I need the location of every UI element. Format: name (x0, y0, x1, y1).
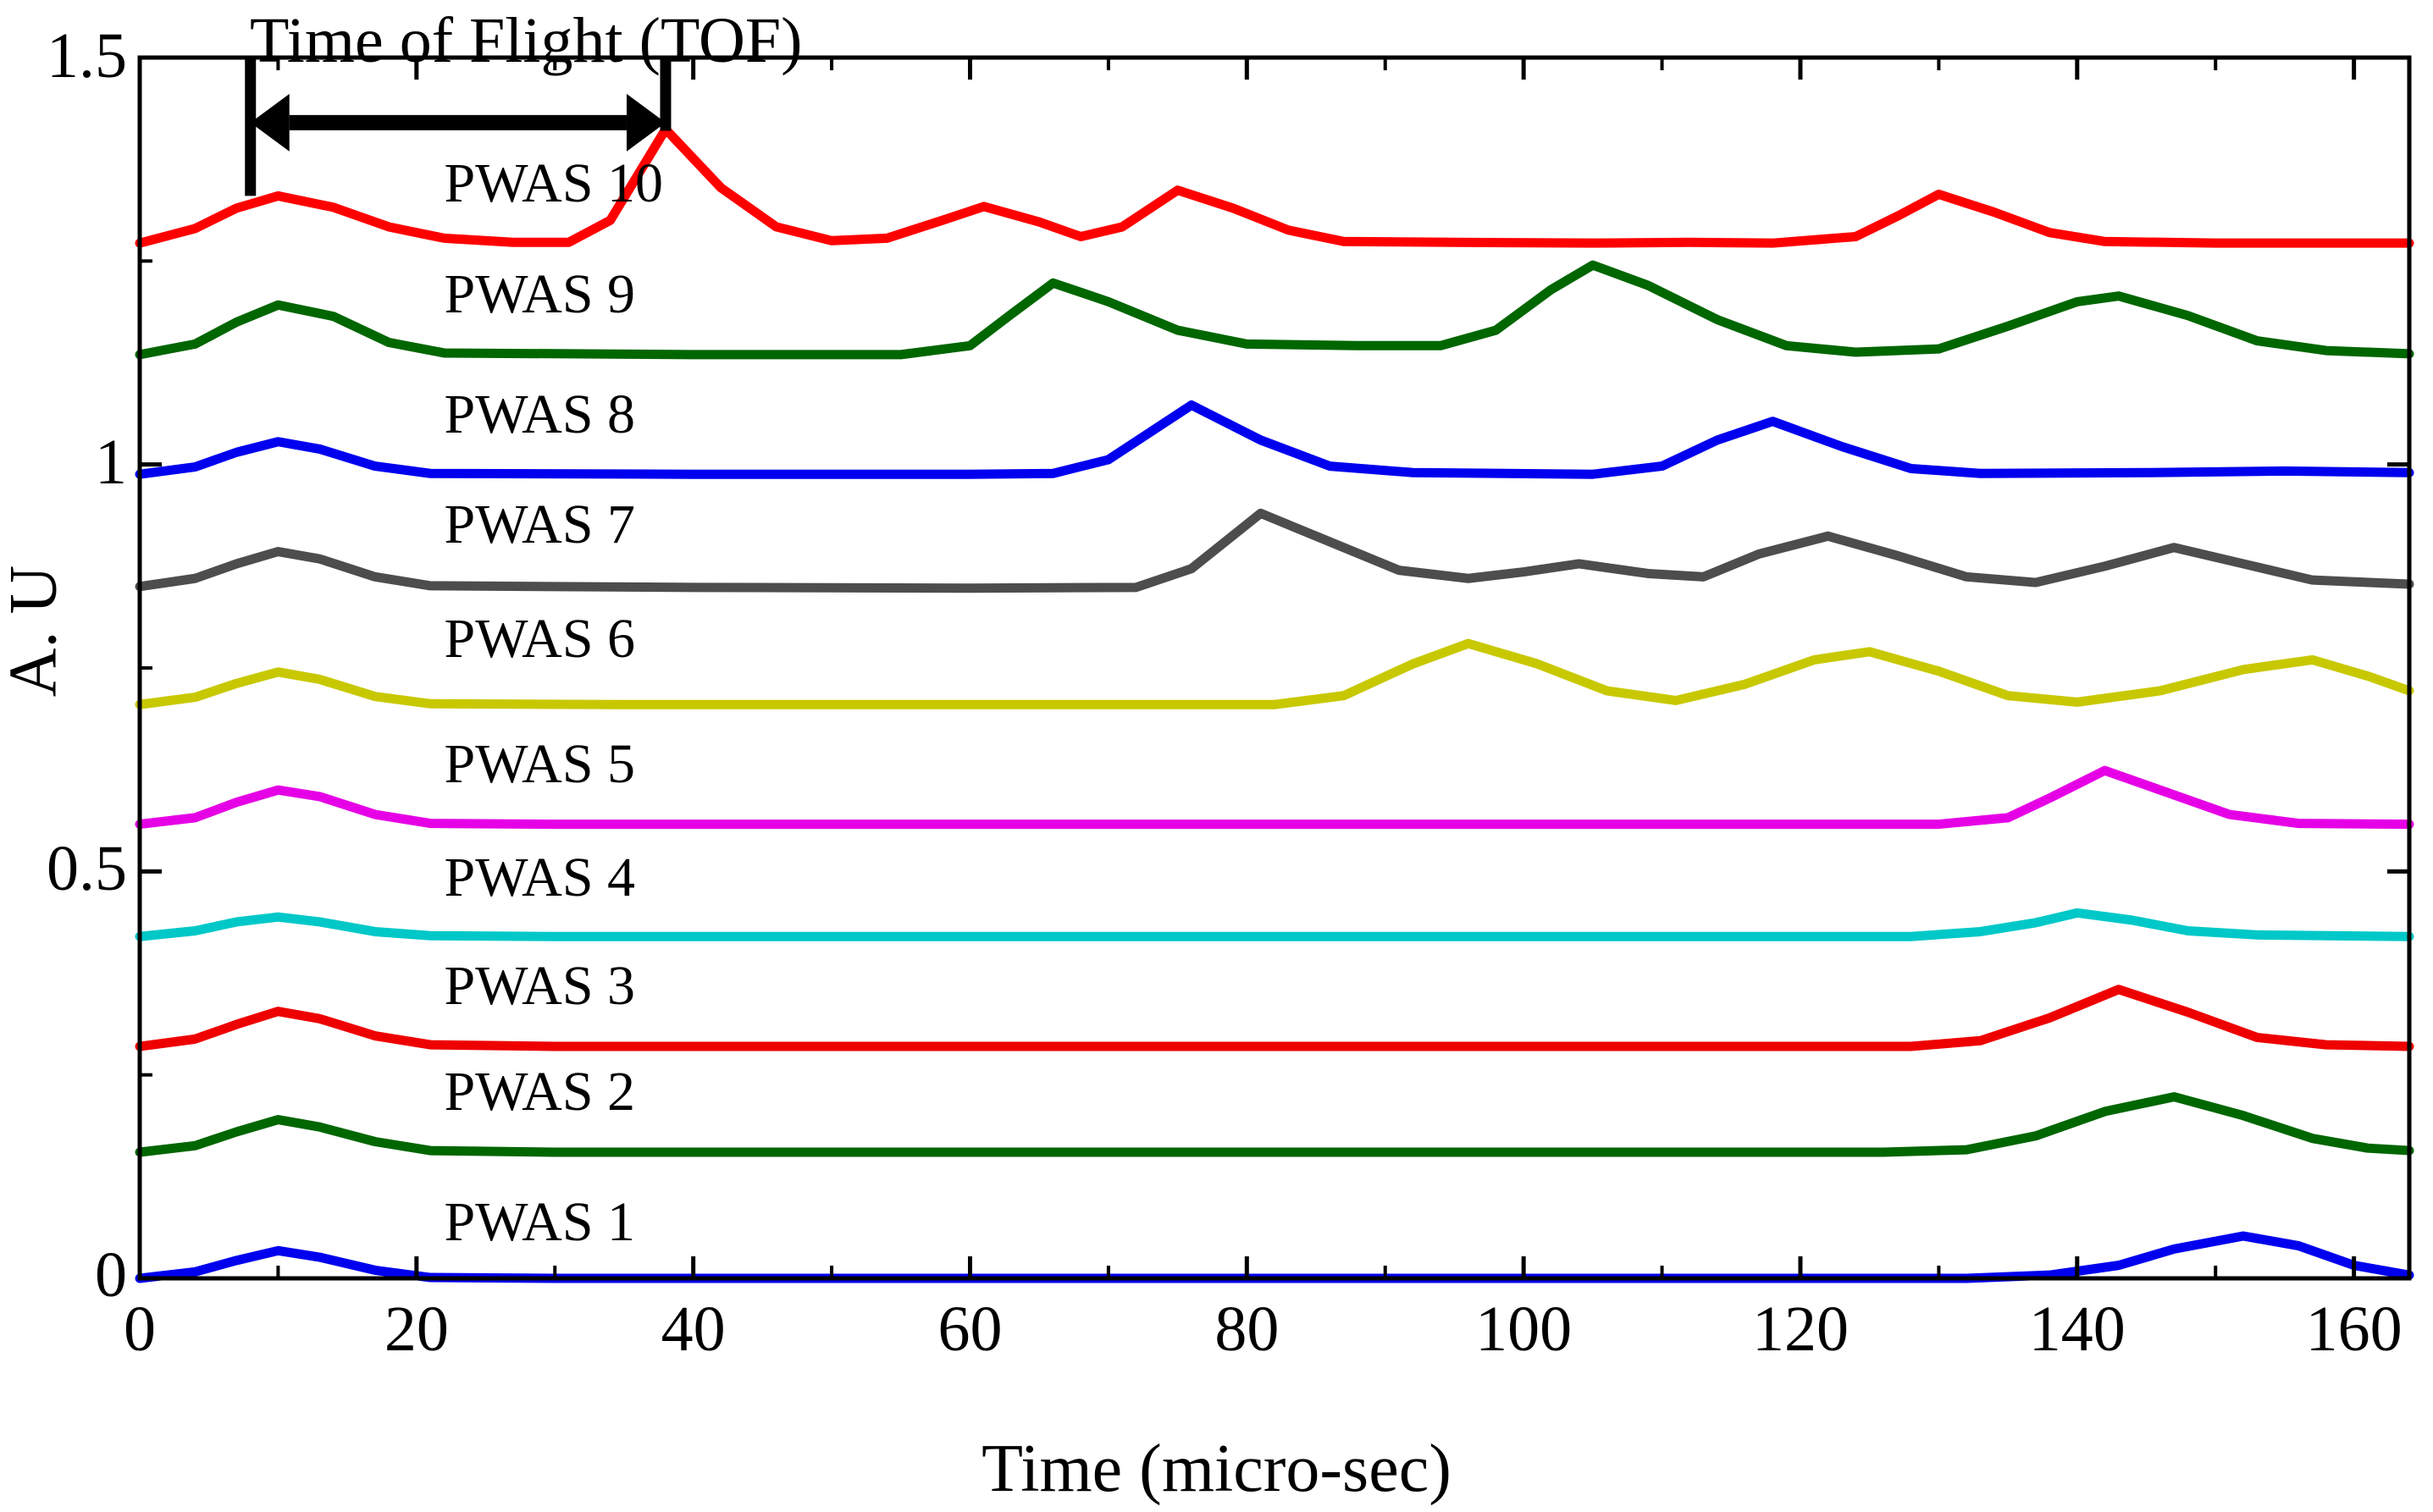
series-label-pwas-4: PWAS 4 (445, 850, 636, 906)
series-label-pwas-1: PWAS 1 (445, 1195, 636, 1250)
series-label-pwas-10: PWAS 10 (445, 156, 664, 212)
chart-figure: 1.5 1 0.5 0 A. U Time of Flight (TOF) 02… (0, 0, 2433, 1512)
xtick-label-120: 120 (1724, 1297, 1877, 1361)
xtick-label-80: 80 (1170, 1297, 1323, 1361)
series-label-pwas-5: PWAS 5 (445, 737, 636, 792)
series-label-pwas-6: PWAS 6 (445, 611, 636, 667)
series-label-pwas-2: PWAS 2 (445, 1064, 636, 1120)
ytick-label-0_5: 0.5 (8, 836, 127, 901)
ytick-label-1_5: 1.5 (8, 24, 127, 88)
series-label-pwas-8: PWAS 8 (445, 387, 636, 443)
ytick-label-1: 1 (8, 430, 127, 494)
xtick-label-0: 0 (64, 1297, 216, 1361)
xtick-label-40: 40 (617, 1297, 770, 1361)
xtick-label-140: 140 (2001, 1297, 2154, 1361)
xtick-label-20: 20 (340, 1297, 493, 1361)
xtick-label-60: 60 (893, 1297, 1046, 1361)
series-label-pwas-9: PWAS 9 (445, 267, 636, 323)
x-axis-title: Time (micro-sec) (0, 1431, 2433, 1508)
xtick-label-160: 160 (2278, 1297, 2430, 1361)
xtick-label-100: 100 (1447, 1297, 1600, 1361)
series-label-pwas-3: PWAS 3 (445, 958, 636, 1014)
y-axis-title: A. U (0, 505, 73, 759)
series-label-pwas-7: PWAS 7 (445, 497, 636, 553)
